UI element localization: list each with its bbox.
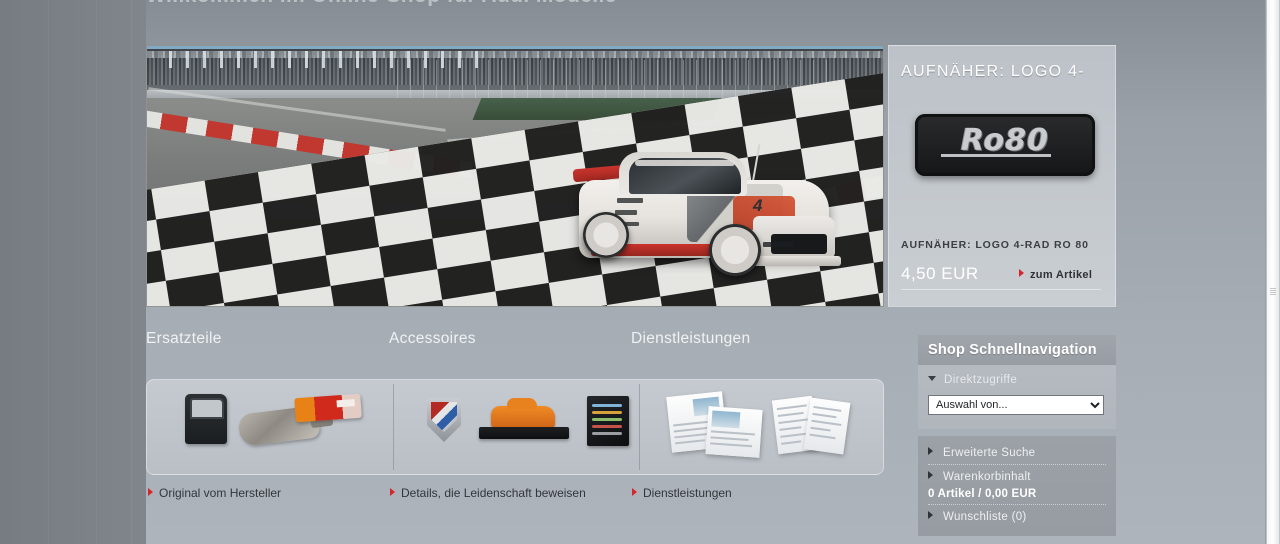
- scrollbar-thumb[interactable]: [1267, 0, 1279, 544]
- car-door-image: [185, 394, 227, 444]
- shop-quicknav: Shop Schnellnavigation Direktzugriffe Au…: [918, 335, 1116, 536]
- triangle-bullet-icon: [632, 488, 637, 496]
- model-car-image: [491, 406, 555, 428]
- quicknav-item-label: Wunschliste (0): [943, 511, 1027, 523]
- category-link-accessoires[interactable]: Details, die Leidenschaft beweisen: [390, 486, 586, 500]
- direct-access-row[interactable]: Direktzugriffe: [928, 374, 1106, 386]
- cart-summary: 0 Artikel / 0,00 EUR: [928, 488, 1106, 504]
- category-heading-ersatzteile: Ersatzteile: [146, 330, 222, 348]
- triangle-bullet-icon: [390, 488, 395, 496]
- triangle-right-icon: [928, 447, 933, 455]
- hero-image[interactable]: 4: [146, 45, 884, 307]
- left-margin-background: [0, 0, 146, 544]
- quicknav-item-wunschliste[interactable]: Wunschliste (0): [928, 507, 1106, 528]
- direct-access-select[interactable]: Auswahl von...: [928, 395, 1104, 415]
- product-detail-link[interactable]: zum Artikel: [1019, 269, 1092, 281]
- page-title: Willkommen im Online-Shop für Audi Model…: [146, 0, 846, 6]
- accessories-thumbnail[interactable]: [393, 380, 639, 474]
- category-heading-accessoires: Accessoires: [389, 330, 476, 348]
- scrollbar-grip-icon: [1270, 288, 1276, 297]
- quicknav-item-warenkorbinhalt[interactable]: Warenkorbinhalt: [928, 467, 1106, 488]
- tail-light-image: [294, 394, 362, 423]
- services-thumbnail[interactable]: [639, 380, 884, 474]
- shop-quicknav-header: Shop Schnellnavigation: [918, 335, 1116, 365]
- product-subtitle: AUFNÄHER: LOGO 4-RAD RO 80: [901, 239, 1107, 251]
- product-price: 4,50 EUR: [901, 264, 979, 284]
- emblem-badge-image: [427, 398, 461, 442]
- category-link-ersatzteile[interactable]: Original vom Hersteller: [148, 486, 281, 500]
- brochure-image: [587, 396, 629, 446]
- product-detail-link-label: zum Artikel: [1030, 269, 1092, 281]
- patch-text-top: Ro: [961, 123, 1005, 158]
- direct-access-box: Direktzugriffe Auswahl von...: [918, 365, 1116, 429]
- quicknav-item-label: Erweiterte Suche: [943, 447, 1035, 459]
- category-heading-dienstleistungen: Dienstleistungen: [631, 330, 750, 348]
- quicknav-item-label: Warenkorbinhalt: [943, 471, 1031, 483]
- spare-parts-thumbnail[interactable]: [147, 380, 393, 474]
- chevron-down-icon: [928, 376, 936, 381]
- triangle-right-icon: [928, 471, 933, 479]
- patch-text-bottom: 80: [1005, 123, 1049, 158]
- quicknav-item-erweiterte-suche[interactable]: Erweiterte Suche: [928, 443, 1106, 464]
- race-car: 4: [557, 138, 837, 290]
- triangle-bullet-icon: [1019, 269, 1024, 277]
- document-image: [804, 397, 851, 454]
- document-image: [705, 406, 762, 458]
- shop-quicknav-list: Erweiterte Suche Warenkorbinhalt 0 Artik…: [918, 436, 1116, 536]
- product-headline: AUFNÄHER: LOGO 4-: [901, 63, 1107, 81]
- triangle-bullet-icon: [148, 488, 153, 496]
- featured-product-card[interactable]: AUFNÄHER: LOGO 4- Ro80 AUFNÄHER: LOGO 4-…: [888, 45, 1116, 307]
- triangle-right-icon: [928, 511, 933, 519]
- product-patch-image: Ro80: [915, 114, 1095, 176]
- category-link-dienstleistungen[interactable]: Dienstleistungen: [632, 486, 732, 500]
- page-root: Willkommen im Online-Shop für Audi Model…: [0, 0, 1280, 544]
- category-link-label: Details, die Leidenschaft beweisen: [401, 486, 586, 500]
- browser-scrollbar[interactable]: [1265, 0, 1280, 544]
- category-link-label: Original vom Hersteller: [159, 486, 281, 500]
- direct-access-label: Direktzugriffe: [944, 374, 1017, 386]
- category-link-label: Dienstleistungen: [643, 486, 732, 500]
- category-thumbnails-panel: [146, 379, 884, 475]
